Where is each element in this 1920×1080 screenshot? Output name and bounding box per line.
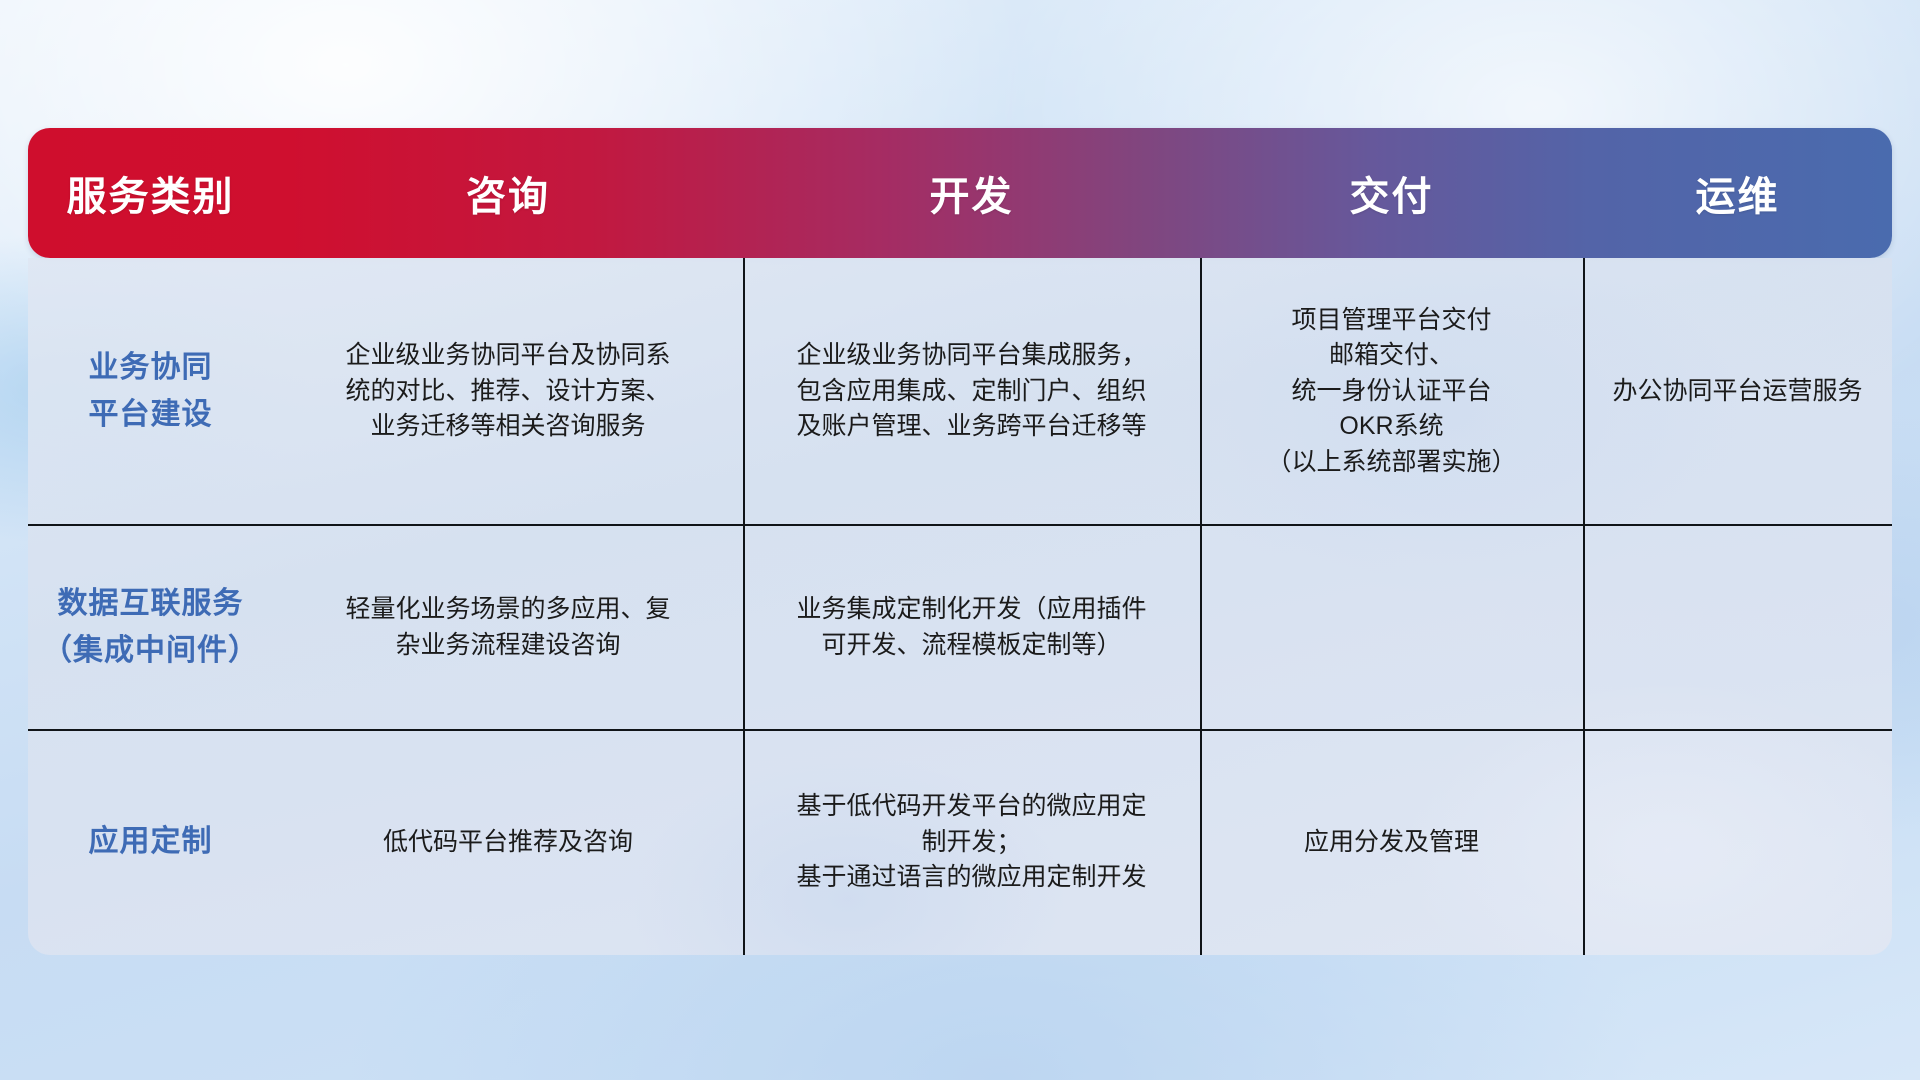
column-header-development: 开发 bbox=[743, 128, 1200, 258]
cell-row3-consulting: 低代码平台推荐及咨询 bbox=[273, 730, 743, 955]
column-divider-consulting-development bbox=[743, 258, 745, 955]
service-category-table: 服务类别 咨询 开发 交付 运维 业务协同 平台建设 企业级业务协同平台及协同系… bbox=[28, 128, 1892, 955]
table-grid: 业务协同 平台建设 企业级业务协同平台及协同系 统的对比、推荐、设计方案、 业务… bbox=[28, 258, 1892, 955]
cell-row1-operations: 办公协同平台运营服务 bbox=[1583, 258, 1892, 525]
row-label-application-customization: 应用定制 bbox=[28, 730, 273, 955]
row-divider-1 bbox=[28, 524, 1892, 526]
cell-row1-development: 企业级业务协同平台集成服务， 包含应用集成、定制门户、组织 及账户管理、业务跨平… bbox=[743, 258, 1200, 525]
column-header-consulting: 咨询 bbox=[273, 128, 743, 258]
cell-row2-development: 业务集成定制化开发（应用插件 可开发、流程模板定制等） bbox=[743, 525, 1200, 730]
cell-row3-delivery: 应用分发及管理 bbox=[1200, 730, 1583, 955]
column-header-category: 服务类别 bbox=[28, 128, 273, 258]
column-header-delivery: 交付 bbox=[1200, 128, 1583, 258]
row-divider-2 bbox=[28, 729, 1892, 731]
cell-row3-development: 基于低代码开发平台的微应用定 制开发； 基于通过语言的微应用定制开发 bbox=[743, 730, 1200, 955]
column-divider-development-delivery bbox=[1200, 258, 1202, 955]
row-label-business-collaboration: 业务协同 平台建设 bbox=[28, 258, 273, 525]
column-divider-delivery-operations bbox=[1583, 258, 1585, 955]
table-header-row: 服务类别 咨询 开发 交付 运维 bbox=[28, 128, 1892, 258]
table-body-panel: 业务协同 平台建设 企业级业务协同平台及协同系 统的对比、推荐、设计方案、 业务… bbox=[28, 258, 1892, 955]
cell-row1-delivery: 项目管理平台交付 邮箱交付、 统一身份认证平台 OKR系统 （以上系统部署实施） bbox=[1200, 258, 1583, 525]
cell-row2-delivery bbox=[1200, 525, 1583, 730]
cell-row2-consulting: 轻量化业务场景的多应用、复 杂业务流程建设咨询 bbox=[273, 525, 743, 730]
cell-row2-operations bbox=[1583, 525, 1892, 730]
row-label-data-interconnection: 数据互联服务 （集成中间件） bbox=[28, 525, 273, 730]
cell-row1-consulting: 企业级业务协同平台及协同系 统的对比、推荐、设计方案、 业务迁移等相关咨询服务 bbox=[273, 258, 743, 525]
cell-row3-operations bbox=[1583, 730, 1892, 955]
column-header-operations: 运维 bbox=[1583, 128, 1892, 258]
